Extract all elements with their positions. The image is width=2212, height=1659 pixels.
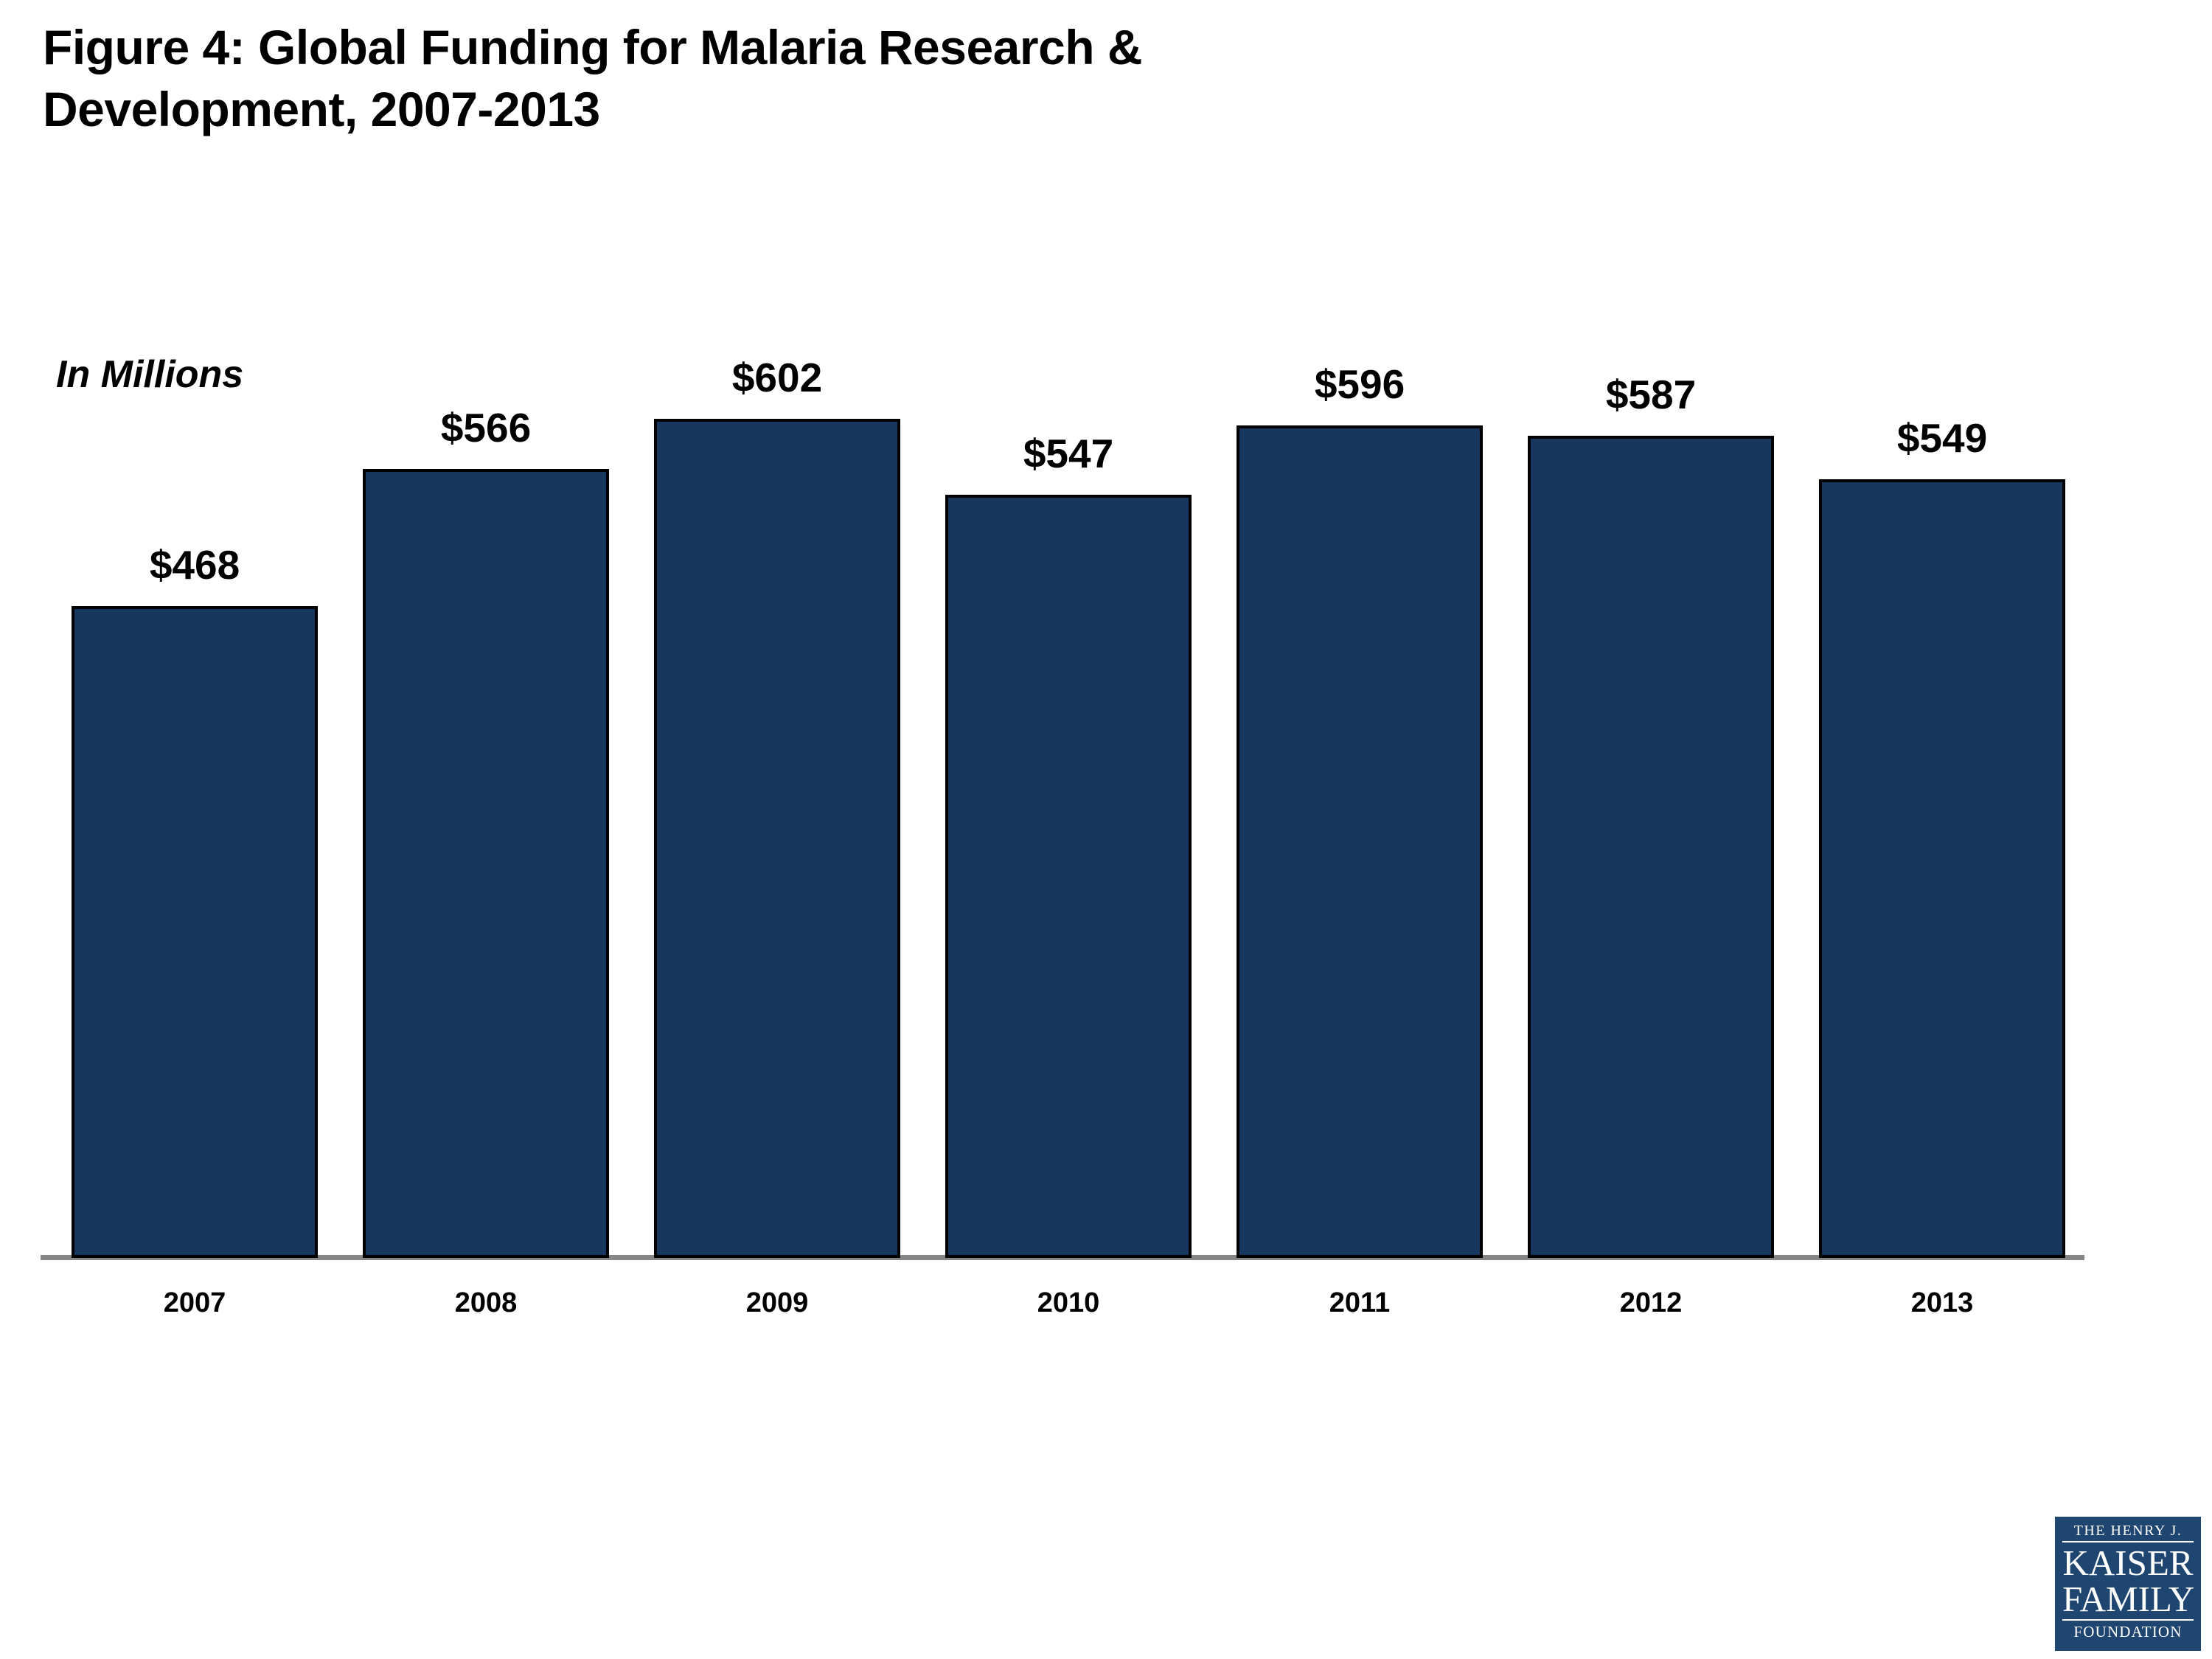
bar-group: $566 [363, 0, 609, 1258]
kaiser-family-foundation-logo: THE HENRY J. KAISER FAMILY FOUNDATION [2055, 1517, 2201, 1651]
bar-group: $587 [1528, 0, 1774, 1258]
x-axis-tick-label-2007: 2007 [164, 1289, 226, 1317]
x-axis-tick-label-2011: 2011 [1329, 1289, 1390, 1317]
bar-chart-plot-area: $468$566$602$547$596$587$549 20072008200… [0, 0, 2212, 1298]
x-axis-tick-label-2009: 2009 [746, 1289, 809, 1317]
bar-group: $596 [1237, 0, 1483, 1258]
bar-2009[interactable] [654, 419, 900, 1258]
bar-value-label-2010: $547 [1023, 434, 1113, 474]
bar-2012[interactable] [1528, 436, 1774, 1258]
bar-2007[interactable] [72, 606, 318, 1258]
x-axis-tick-label-2013: 2013 [1911, 1289, 1974, 1317]
bar-group: $547 [945, 0, 1192, 1258]
x-axis-tick-label-2012: 2012 [1620, 1289, 1683, 1317]
x-axis-tick-label-2008: 2008 [455, 1289, 518, 1317]
bar-value-label-2009: $602 [732, 358, 822, 398]
bar-2010[interactable] [945, 495, 1192, 1258]
bar-2013[interactable] [1819, 479, 2065, 1258]
bar-2011[interactable] [1237, 425, 1483, 1258]
bar-group: $549 [1819, 0, 2065, 1258]
bar-2008[interactable] [363, 469, 609, 1258]
logo-line-family: FAMILY [2062, 1581, 2194, 1621]
logo-line-the-henry-j: THE HENRY J. [2062, 1523, 2194, 1543]
logo-line-kaiser: KAISER [2062, 1543, 2194, 1581]
bar-group: $468 [72, 0, 318, 1258]
x-axis-tick-label-2010: 2010 [1037, 1289, 1100, 1317]
bar-value-label-2008: $566 [441, 408, 531, 448]
bar-value-label-2013: $549 [1897, 418, 1987, 459]
bar-value-label-2007: $468 [150, 545, 240, 585]
bar-group: $602 [654, 0, 900, 1258]
slide-canvas: Figure 4: Global Funding for Malaria Res… [0, 0, 2212, 1659]
bar-value-label-2011: $596 [1315, 364, 1405, 405]
bar-value-label-2012: $587 [1606, 375, 1696, 415]
logo-line-foundation: FOUNDATION [2062, 1621, 2194, 1640]
